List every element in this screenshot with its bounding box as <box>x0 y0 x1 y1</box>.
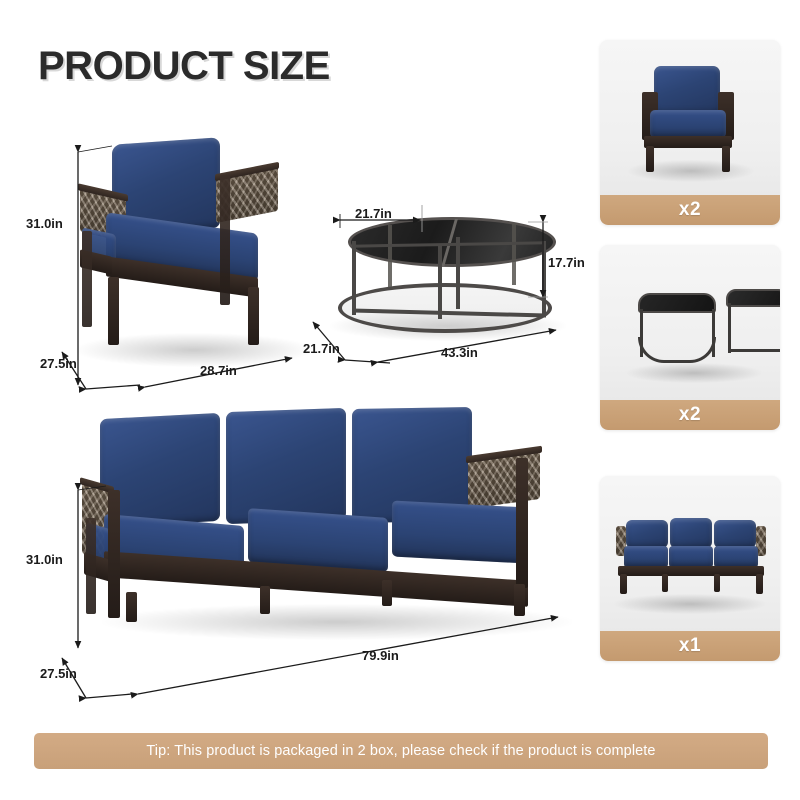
sofa-illustration <box>82 408 572 648</box>
chair-width-label: 28.7in <box>200 363 237 378</box>
mini-sofa-seat-cushion-3 <box>714 546 758 568</box>
sofa-back-cushion-2 <box>226 408 346 524</box>
table-leg-center-a <box>438 245 442 319</box>
mini-table-leg-far-left <box>728 303 731 353</box>
mini-table-top-far <box>726 289 780 307</box>
quantity-banner-nesting-tables: x2 <box>600 400 780 430</box>
table-length-label: 43.3in <box>441 345 478 360</box>
mini-table-rail-far <box>728 349 780 352</box>
sofa-leg-1 <box>126 592 137 622</box>
chair-depth-label: 27.5in <box>40 356 77 371</box>
panel-art-armchair <box>600 40 780 195</box>
mini-table-top-near <box>638 293 716 313</box>
sofa-seat-cushion-3 <box>392 500 528 563</box>
sofa-leg-3 <box>382 580 392 606</box>
mini-chair-leg-right <box>722 146 730 172</box>
table-illustration <box>330 215 570 350</box>
tip-banner: Tip: This product is packaged in 2 box, … <box>34 733 768 769</box>
mini-chair-apron <box>644 136 732 148</box>
mini-sofa-leg-mid-left <box>662 574 668 592</box>
sofa-post-left <box>108 490 120 618</box>
product-size-infographic: PRODUCT SIZE 31.0in 27.5in 28.7in <box>0 0 800 800</box>
sofa-post-back-left <box>86 518 96 614</box>
chair-leg-back-left <box>82 231 92 327</box>
table-leg-front-left <box>352 241 356 315</box>
sofa-width-label: 79.9in <box>362 648 399 663</box>
chair-illustration <box>70 135 310 380</box>
mini-table-ring-near <box>638 337 716 363</box>
panel-art-nesting-tables <box>600 245 780 400</box>
sofa-post-right <box>516 458 528 588</box>
sofa-depth-label: 27.5in <box>40 666 77 681</box>
quantity-banner-sofa: x1 <box>600 631 780 661</box>
table-depth-label: 21.7in <box>303 341 340 356</box>
chair-height-label: 31.0in <box>26 216 63 231</box>
mini-chair-back-cushion <box>654 66 720 114</box>
mini-sofa-apron <box>618 566 764 576</box>
quantity-label-sofa: x1 <box>679 635 701 657</box>
quantity-label-nesting-tables: x2 <box>679 404 701 426</box>
sofa-height-label: 31.0in <box>26 552 63 567</box>
page-title: PRODUCT SIZE <box>38 44 330 89</box>
mini-sofa-seat-cushion-2 <box>669 546 713 568</box>
table-height-label: 17.7in <box>548 255 585 270</box>
mini-sofa-leg-right <box>756 574 763 594</box>
table-top-width-label: 21.7in <box>355 206 392 221</box>
sofa-leg-4 <box>514 584 525 616</box>
chair-leg-back-right <box>220 175 230 305</box>
mini-chair-seat-cushion <box>650 110 726 138</box>
table-leg-back-right <box>512 223 516 285</box>
quantity-label-armchair: x2 <box>679 199 701 221</box>
sofa-leg-2 <box>260 586 270 614</box>
mini-sofa-back-cushion-2 <box>670 518 712 548</box>
quantity-panel-nesting-tables[interactable]: x2 <box>600 245 780 430</box>
mini-sofa-leg-left <box>620 574 627 594</box>
table-leg-back-left <box>388 225 392 287</box>
mini-sofa-back-cushion-1 <box>626 520 668 548</box>
table-leg-front-right <box>542 241 546 315</box>
mini-sofa-seat-cushion-1 <box>624 546 668 568</box>
table-leg-center-b <box>456 237 460 309</box>
quantity-panel-sofa[interactable]: x1 <box>600 476 780 661</box>
mini-chair-leg-left <box>646 146 654 172</box>
chair-leg-front-right <box>248 287 259 345</box>
mini-sofa-leg-mid-right <box>714 574 720 592</box>
panel-art-sofa <box>600 476 780 631</box>
quantity-banner-armchair: x2 <box>600 195 780 225</box>
mini-sofa-back-cushion-3 <box>714 520 756 548</box>
chair-leg-front-left <box>108 277 119 345</box>
tip-text: Tip: This product is packaged in 2 box, … <box>146 743 655 759</box>
quantity-panel-armchair[interactable]: x2 <box>600 40 780 225</box>
